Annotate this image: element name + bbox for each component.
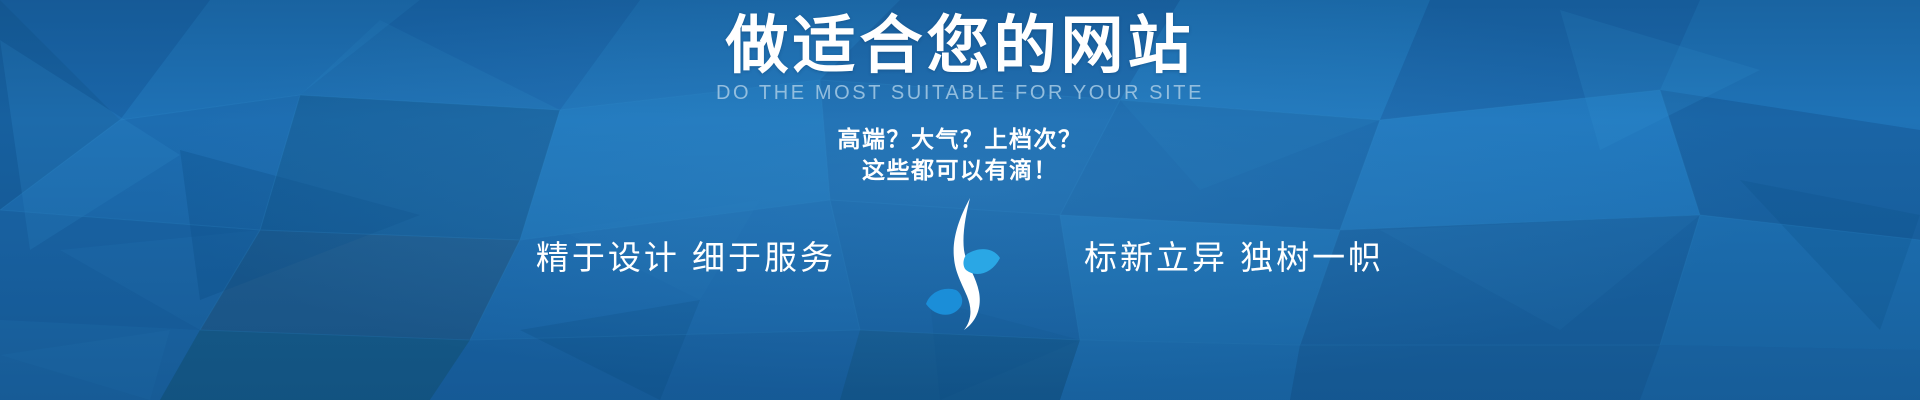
- banner-tagline: 高端？大气？上档次？ 这些都可以有滴！: [838, 124, 1083, 186]
- tagline-line-1: 高端？大气？上档次？: [838, 124, 1083, 155]
- promo-banner: 做适合您的网站 DO THE MOST SUITABLE FOR YOUR SI…: [0, 0, 1920, 400]
- slogan-right: 标新立异 独树一帜: [1084, 241, 1384, 274]
- slogan-row: 精于设计 细于服务 标新立异 独树一帜: [0, 178, 1920, 336]
- leaf-swirl-logo-icon: [908, 196, 1012, 336]
- slogan-left: 精于设计 细于服务: [536, 241, 836, 274]
- banner-subtitle-english: DO THE MOST SUITABLE FOR YOUR SITE: [716, 82, 1204, 105]
- page-title: 做适合您的网站: [726, 12, 1195, 80]
- leaf-swirl-logo-svg: [908, 196, 1012, 336]
